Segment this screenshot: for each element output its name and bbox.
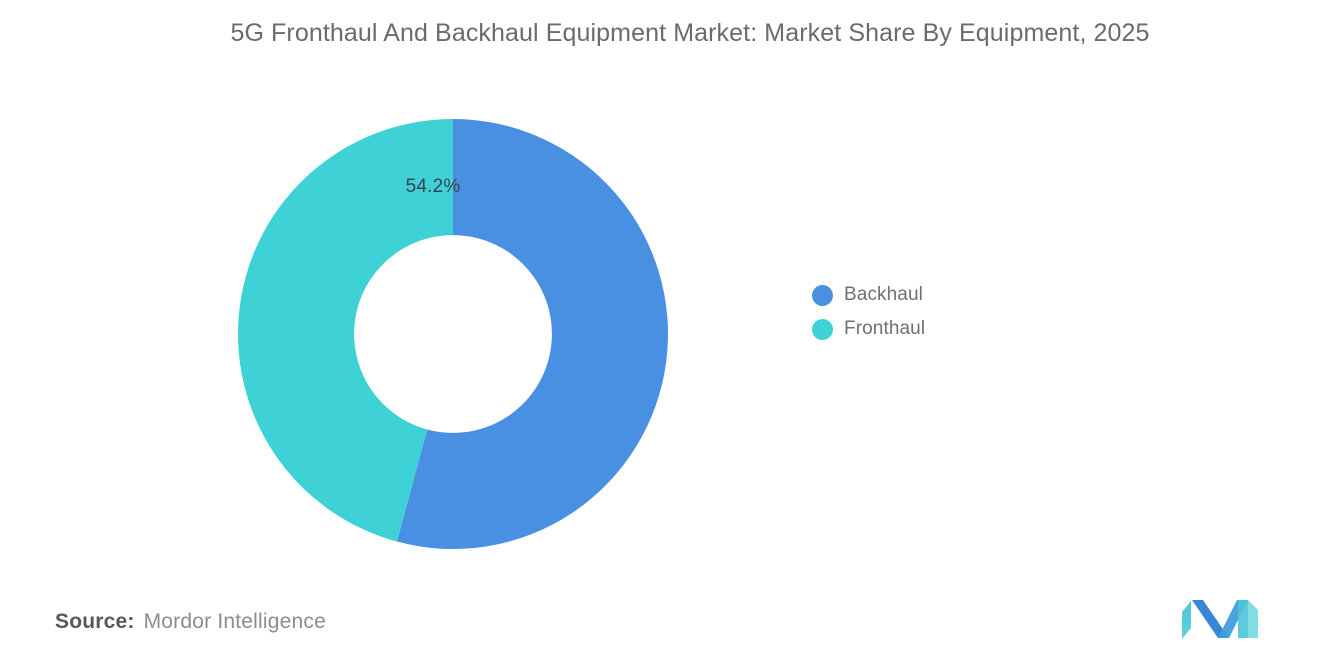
logo-svg [1182, 598, 1258, 640]
legend-swatch-icon-fronthaul [812, 319, 833, 340]
donut-slice-label-backhaul: 54.2% [383, 176, 483, 198]
legend-label-fronthaul: Fronthaul [844, 318, 925, 340]
chart-title: 5G Fronthaul And Backhaul Equipment Mark… [110, 14, 1270, 52]
legend-label-backhaul: Backhaul [844, 284, 923, 306]
legend-swatch-icon-backhaul [812, 285, 833, 306]
legend-item-backhaul[interactable]: Backhaul [812, 284, 925, 306]
donut-hole [354, 235, 552, 433]
chart-legend: Backhaul Fronthaul [812, 284, 925, 340]
legend-item-fronthaul[interactable]: Fronthaul [812, 318, 925, 340]
source-value: Mordor Intelligence [144, 610, 326, 634]
source-label: Source: [55, 610, 135, 634]
mordor-intelligence-logo-icon [1182, 598, 1258, 640]
source-attribution: Source: Mordor Intelligence [55, 610, 326, 634]
